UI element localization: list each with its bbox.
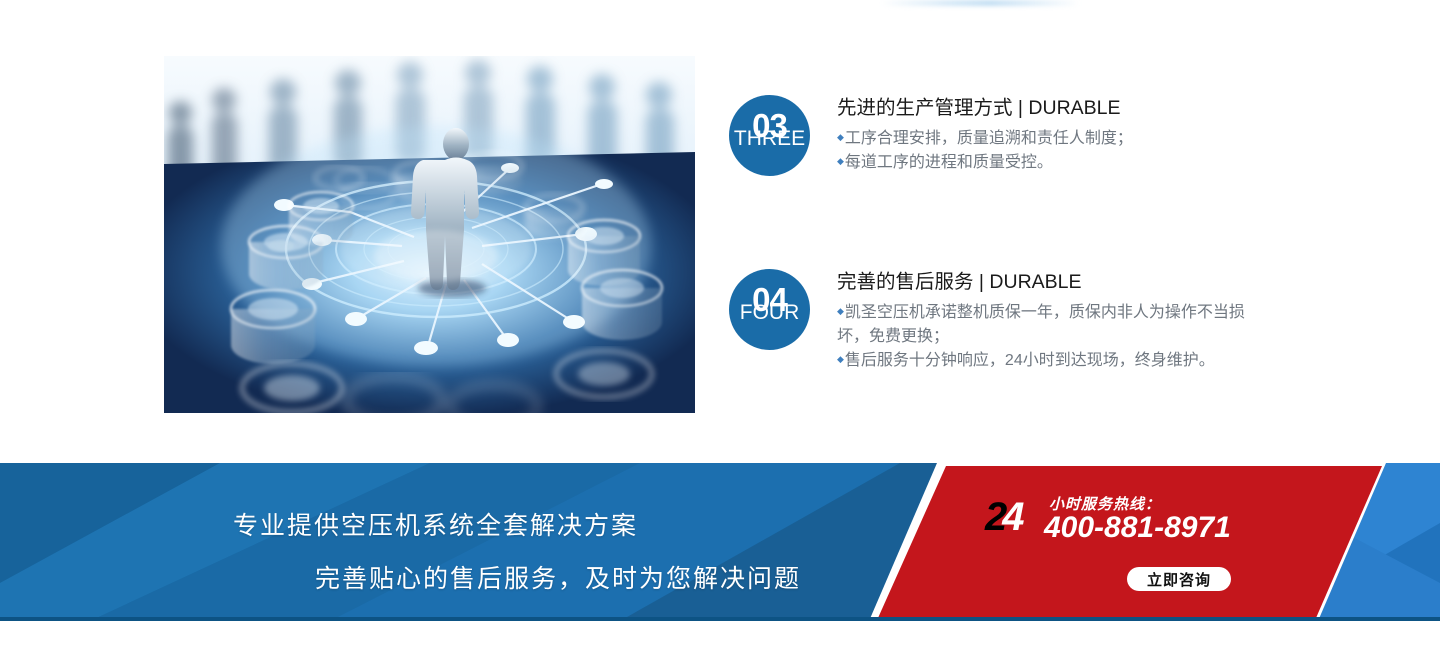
badge-word: FOUR <box>729 302 810 323</box>
feature-block-03: 03 THREE 先进的生产管理方式 | DURABLE ◆工序合理安排，质量追… <box>729 95 1133 176</box>
bottom-cta-banner: 专业提供空压机系统全套解决方案 完善贴心的售后服务，及时为您解决问题 24 小时… <box>0 463 1440 621</box>
list-item: ◆工序合理安排，质量追溯和责任人制度； <box>837 127 1133 151</box>
slogan-line-2: 完善贴心的售后服务，及时为您解决问题 <box>315 559 801 595</box>
diamond-bullet-icon: ◆ <box>837 132 844 142</box>
24-hour-logo: 24 <box>985 497 1024 537</box>
diamond-bullet-icon: ◆ <box>837 354 844 364</box>
list-item: ◆凯圣空压机承诺整机质保一年，质保内非人为操作不当损坏，免费更换； <box>837 301 1247 349</box>
list-item: ◆售后服务十分钟响应，24小时到达现场，终身维护。 <box>837 349 1247 373</box>
feature-block-04: 04 FOUR 完善的售后服务 | DURABLE ◆凯圣空压机承诺整机质保一年… <box>729 269 1247 373</box>
bullet-text: 售后服务十分钟响应，24小时到达现场，终身维护。 <box>845 352 1215 369</box>
list-item: ◆每道工序的进程和质量受控。 <box>837 151 1133 175</box>
badge-04: 04 FOUR <box>729 269 810 350</box>
feature-title: 先进的生产管理方式 | DURABLE <box>837 97 1133 120</box>
feature-bullet-list: ◆工序合理安排，质量追溯和责任人制度； ◆每道工序的进程和质量受控。 <box>837 127 1133 175</box>
hotline-phone-number[interactable]: 400-881-8971 <box>1044 511 1231 545</box>
feature-text-03: 先进的生产管理方式 | DURABLE ◆工序合理安排，质量追溯和责任人制度； … <box>837 95 1133 175</box>
feature-bullet-list: ◆凯圣空压机承诺整机质保一年，质保内非人为操作不当损坏，免费更换； ◆售后服务十… <box>837 301 1247 373</box>
network-people-illustration <box>164 56 695 413</box>
diamond-bullet-icon: ◆ <box>837 306 844 316</box>
bullet-text: 每道工序的进程和质量受控。 <box>845 154 1053 171</box>
bullet-text: 工序合理安排，质量追溯和责任人制度； <box>845 130 1133 147</box>
badge-03: 03 THREE <box>729 95 810 176</box>
logo-digit-4: 4 <box>1002 495 1021 539</box>
feature-title: 完善的售后服务 | DURABLE <box>837 271 1247 294</box>
slogan-line-1: 专业提供空压机系统全套解决方案 <box>233 506 638 542</box>
diamond-bullet-icon: ◆ <box>837 156 844 166</box>
feature-text-04: 完善的售后服务 | DURABLE ◆凯圣空压机承诺整机质保一年，质保内非人为操… <box>837 269 1247 373</box>
banner-slogans: 专业提供空压机系统全套解决方案 完善贴心的售后服务，及时为您解决问题 <box>0 463 920 621</box>
top-edge-remnant <box>880 0 1080 6</box>
bullet-text: 凯圣空压机承诺整机质保一年，质保内非人为操作不当损坏，免费更换； <box>837 304 1245 345</box>
badge-word: THREE <box>729 128 810 149</box>
consult-now-button[interactable]: 立即咨询 <box>1127 567 1231 591</box>
